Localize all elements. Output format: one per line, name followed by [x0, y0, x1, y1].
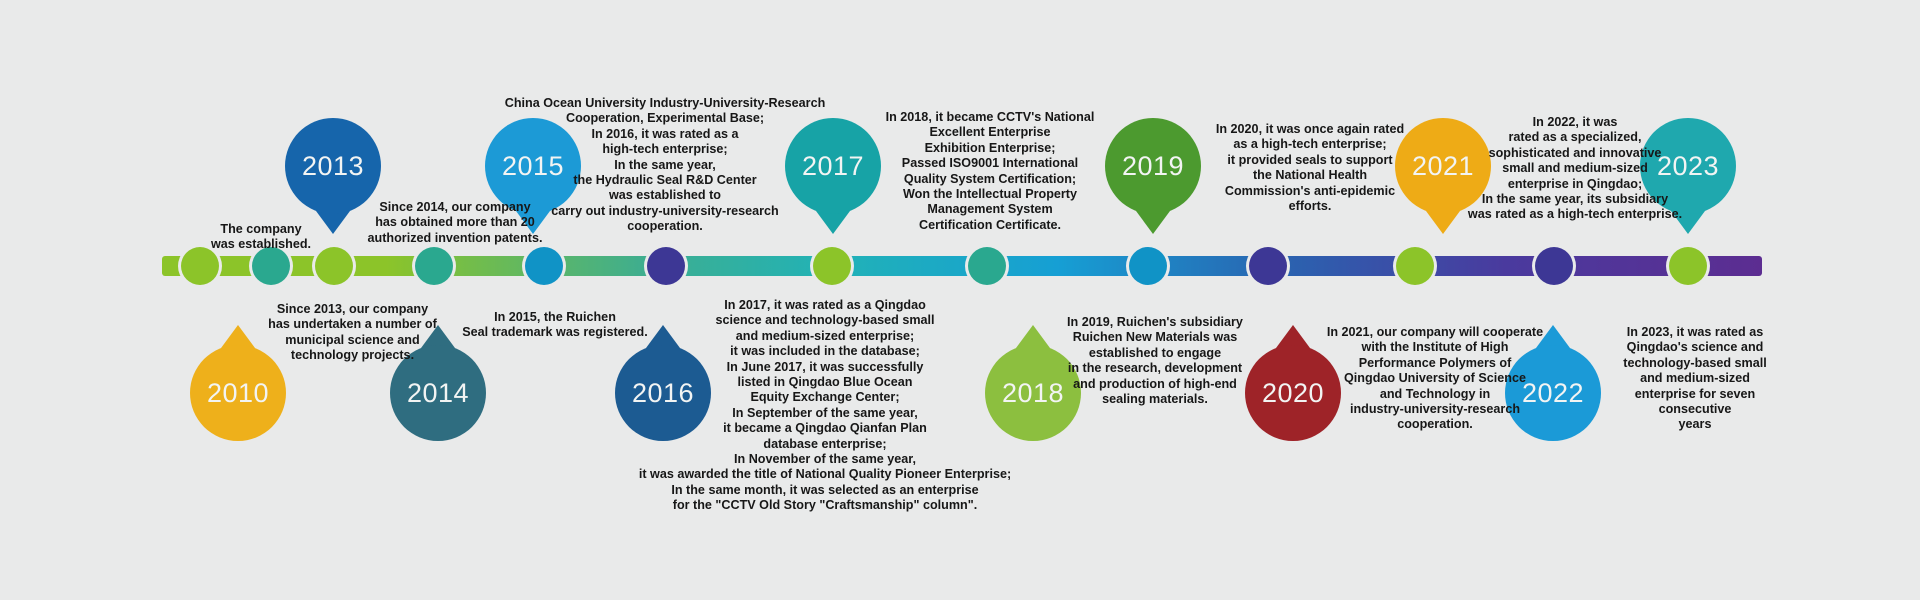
event-note-2013: The companywas established. — [176, 222, 346, 253]
timeline-dot — [968, 247, 1006, 285]
event-note-2022: In 2023, it was rated asQingdao's scienc… — [1595, 325, 1795, 433]
timeline-rail — [162, 256, 1762, 276]
event-note-2010: Since 2013, our companyhas undertaken a … — [240, 302, 465, 364]
event-note-2017: China Ocean University Industry-Universi… — [500, 96, 830, 235]
timeline-dot — [813, 247, 851, 285]
event-note-2018: In 2019, Ruichen's subsidiaryRuichen New… — [1040, 315, 1270, 407]
event-note-2020: In 2021, our company will cooperatewith … — [1300, 325, 1570, 433]
timeline-dot — [415, 247, 453, 285]
timeline-dot — [1129, 247, 1167, 285]
timeline-dot — [1249, 247, 1287, 285]
timeline-dot — [1669, 247, 1707, 285]
event-note-2023: In 2022, it wasrated as a specialized,so… — [1450, 115, 1700, 223]
event-note-2019: In 2018, it became CCTV's NationalExcell… — [865, 110, 1115, 233]
timeline-infographic: 201320152017201920212023 The companywas … — [0, 0, 1920, 600]
timeline-dot — [1535, 247, 1573, 285]
event-note-2016: In 2017, it was rated as a Qingdaoscienc… — [630, 298, 1020, 514]
timeline-dot — [647, 247, 685, 285]
timeline-dot — [1396, 247, 1434, 285]
event-note-2021: In 2020, it was once again ratedas a hig… — [1185, 122, 1435, 214]
timeline-dot — [525, 247, 563, 285]
